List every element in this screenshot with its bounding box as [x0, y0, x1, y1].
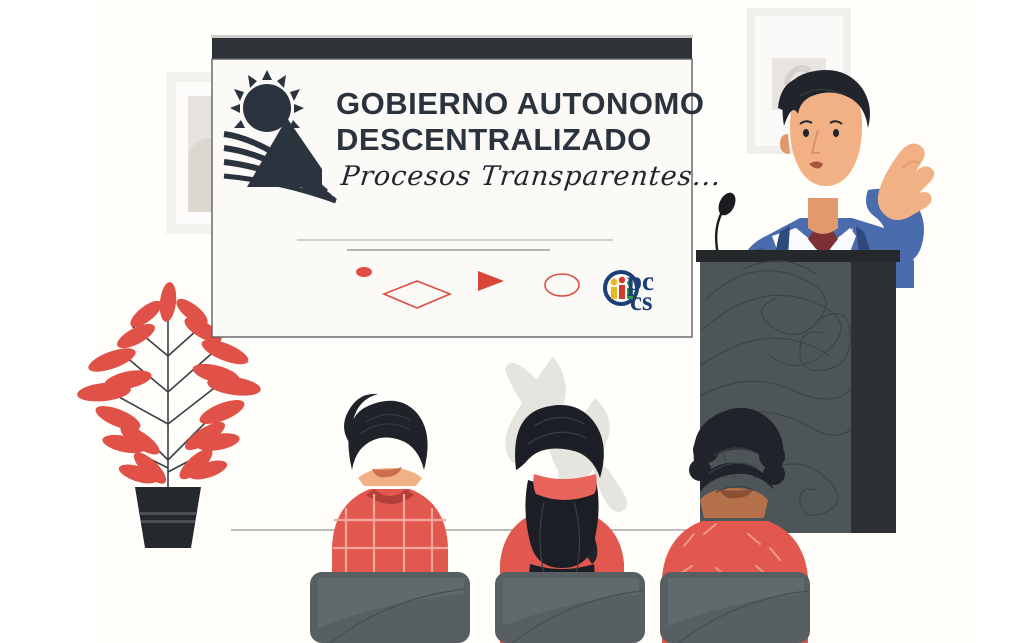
red-dot [356, 267, 372, 277]
slide-heading-line2: DESCENTRALIZADO [336, 124, 652, 155]
podium-top [696, 250, 900, 262]
cpccs-logo-line2: cs [630, 288, 653, 315]
presentation-illustration: GOBIERNO AUTONOMO DESCENTRALIZADO Proces… [0, 0, 1035, 643]
slide-heading-line1: GOBIERNO AUTONOMO [336, 88, 704, 119]
slide-tagline: Procesos Transparentes... [339, 161, 723, 192]
plant-pot [135, 487, 201, 548]
screen-top-bar [212, 37, 692, 59]
podium-side [851, 256, 896, 533]
